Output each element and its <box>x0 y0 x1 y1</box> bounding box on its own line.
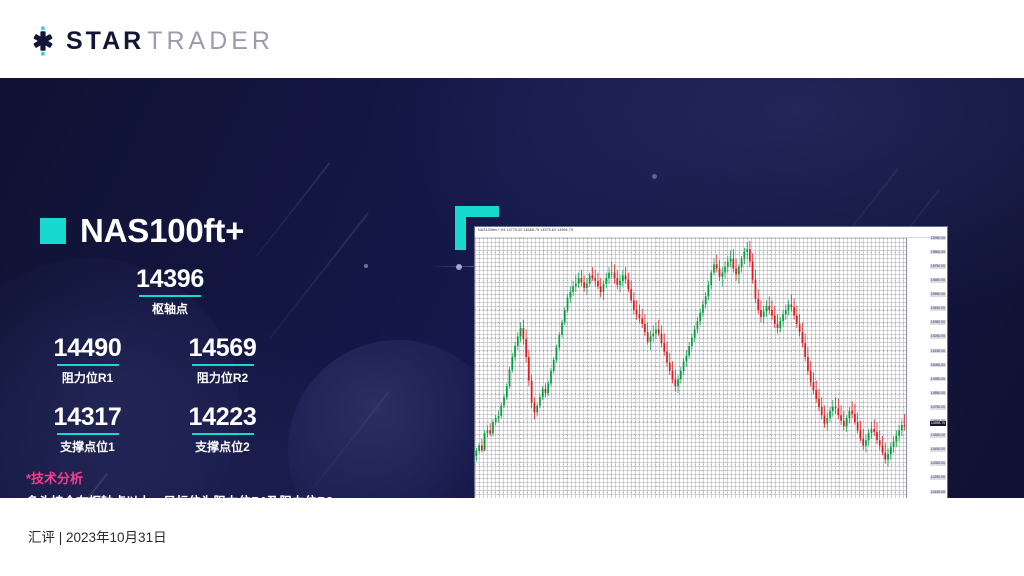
support-2: 14223 支撑点位2 <box>155 404 290 455</box>
pivot-label: 阻力位R1 <box>20 369 155 386</box>
decorative-dot <box>652 174 657 179</box>
pivot-value: 14396 <box>103 266 238 293</box>
pivot-value: 14569 <box>155 335 290 362</box>
price-tick-label: 14850.00 <box>930 391 946 396</box>
price-axis: 15950.0015850.0015750.0015650.0015550.00… <box>906 238 947 498</box>
candlestick-series <box>475 238 906 498</box>
resistance-1: 14490 阻力位R1 <box>20 335 155 386</box>
pivot-label: 阻力位R2 <box>155 369 290 386</box>
pivot-label: 枢轴点 <box>103 300 238 317</box>
pivot-underline <box>57 433 119 435</box>
price-tick-label: 15650.00 <box>930 278 946 283</box>
symbol-name: NAS100ft+ <box>80 212 244 250</box>
price-tick-label: 15450.00 <box>930 306 946 311</box>
pivot-underline <box>192 433 254 435</box>
pivot-underline <box>139 295 201 297</box>
price-tick-label: 15550.00 <box>930 292 946 297</box>
candlestick-chart: NAS100ftm+,H4 14775.43 14588.75 14575.63… <box>474 226 948 498</box>
brand-name-light: TRADER <box>147 27 274 56</box>
price-tick-label: 15250.00 <box>930 334 946 339</box>
support-1: 14317 支撑点位1 <box>20 404 155 455</box>
asterisk-star-icon <box>28 26 58 56</box>
brand-logo: STAR TRADER <box>28 26 274 56</box>
price-tick-label: 14350.00 <box>930 461 946 466</box>
decorative-dot <box>364 264 368 268</box>
current-price-label: 14598.75 <box>930 421 946 426</box>
price-tick-label: 15050.00 <box>930 363 946 368</box>
main-panel: NAS100ft+ 14396 枢轴点 14490 阻力位R1 14569 <box>0 78 1024 498</box>
analysis-title: *技术分析 <box>26 468 388 487</box>
decorative-dot <box>456 264 462 270</box>
slide-root: STAR TRADER NAS100ft+ 14396 <box>0 0 1024 576</box>
pivot-value: 14317 <box>20 404 155 431</box>
pivot-point: 14396 枢轴点 <box>103 266 238 317</box>
pivot-label: 支撑点位1 <box>20 438 155 455</box>
price-tick-label: 14750.00 <box>930 405 946 410</box>
pivot-underline <box>192 364 254 366</box>
square-marker-icon <box>40 218 66 244</box>
price-tick-label: 14950.00 <box>930 377 946 382</box>
header-bar: STAR TRADER <box>0 0 1024 78</box>
chart-title: NAS100ftm+,H4 14775.43 14588.75 14575.63… <box>478 228 573 232</box>
price-tick-label: 14250.00 <box>930 475 946 480</box>
pivot-underline <box>57 364 119 366</box>
brand-name-bold: STAR <box>66 27 144 56</box>
price-tick-label: 14150.00 <box>930 490 946 495</box>
resistance-2: 14569 阻力位R2 <box>155 335 290 386</box>
chart-header: NAS100ftm+,H4 14775.43 14588.75 14575.63… <box>475 227 947 238</box>
price-tick-label: 15150.00 <box>930 349 946 354</box>
price-tick-label: 15350.00 <box>930 320 946 325</box>
price-tick-label: 14450.00 <box>930 447 946 452</box>
pivot-levels: 14396 枢轴点 14490 阻力位R1 14569 阻力位R2 <box>20 266 320 455</box>
pivot-value: 14223 <box>155 404 290 431</box>
footer-caption: 汇评 | 2023年10月31日 <box>28 526 167 546</box>
pivot-value: 14490 <box>20 335 155 362</box>
chart-plot-area <box>475 238 906 498</box>
price-tick-label: 15750.00 <box>930 264 946 269</box>
price-tick-label: 15950.00 <box>930 236 946 241</box>
pivot-label: 支撑点位2 <box>155 438 290 455</box>
symbol-heading: NAS100ft+ <box>40 212 244 250</box>
price-tick-label: 14550.00 <box>930 433 946 438</box>
price-tick-label: 15850.00 <box>930 250 946 255</box>
technical-analysis: *技术分析 多头持仓在枢轴点以上，目标位为阻力位R1及阻力位R2。 若低于枢轴点… <box>26 468 388 498</box>
footer-bar: 汇评 | 2023年10月31日 <box>0 498 1024 576</box>
